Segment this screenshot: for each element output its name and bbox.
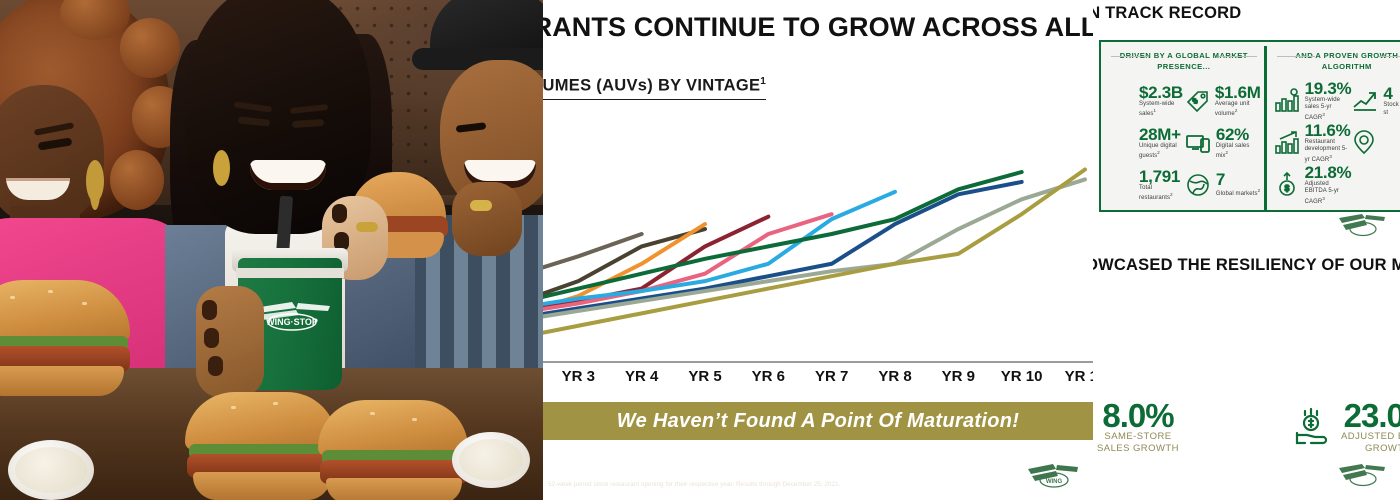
chart-subtitle-text: OLUMES (AUVs) BY VINTAGE <box>543 77 760 95</box>
stat-value: 19.3% <box>1305 80 1352 97</box>
gold-ring <box>356 222 378 232</box>
hand-coin-icon <box>1293 407 1335 449</box>
stat-cell: 19.3%System-wide sales 5-yr CAGR3 <box>1273 80 1352 123</box>
devices-icon <box>1184 130 1212 156</box>
stats-slides: EN TRACK RECORD DRIVEN BY A GLOBAL MARKE… <box>1093 0 1400 500</box>
x-tick-yr-9: YR 9 <box>942 368 975 385</box>
stat-cell: 4Stock same-st <box>1351 85 1400 117</box>
x-tick-yr-10: YR 10 <box>1001 368 1043 385</box>
stats-left-grid: $2.3BSystem-wide sales1$$1.6MAverage uni… <box>1107 80 1261 206</box>
stats-left-heading: DRIVEN BY A GLOBAL MARKET PRESENCE... <box>1107 50 1261 72</box>
stat-label: Stock same-st <box>1383 102 1400 117</box>
bar-chart-arrow-icon <box>1273 130 1301 156</box>
price-tag-icon: $ <box>1183 88 1211 114</box>
chart-plot-area <box>543 108 1093 360</box>
stats-right-heading: AND A PROVEN GROWTH ALGORITHM <box>1273 50 1400 72</box>
stats-card: DRIVEN BY A GLOBAL MARKET PRESENCE... $2… <box>1099 40 1400 212</box>
stat-value: $1.6M <box>1215 84 1261 101</box>
stat-label: Restaurant development 5-yr CAGR3 <box>1305 139 1351 165</box>
stat-same-store-sales: 8.0% SAME-STORESALES GROWTH <box>1097 400 1179 455</box>
nail-polish <box>332 204 347 223</box>
spacer <box>1107 130 1135 156</box>
x-tick-yr-5: YR 5 <box>688 368 721 385</box>
chart-slide: URANTS CONTINUE TO GROW ACROSS ALL V OLU… <box>543 0 1093 500</box>
stat-cell <box>1350 130 1400 156</box>
stat-row: $21.8%Adjusted EBITDA 5-yr CAGR3 <box>1273 164 1400 206</box>
stat-cell: $$1.6MAverage unit volume2 <box>1183 84 1261 119</box>
stat-value: 21.8% <box>1305 164 1352 181</box>
globe-icon <box>1184 172 1212 198</box>
hair-curl <box>110 150 164 210</box>
sandwich-front-right <box>318 400 468 500</box>
cup-brand-text: WING·STOP <box>266 317 318 327</box>
svg-text:$: $ <box>1192 98 1200 106</box>
auv-vintage-line-chart <box>543 108 1093 360</box>
chart-x-axis-line <box>543 361 1093 363</box>
stats-top-title: EN TRACK RECORD <box>1093 4 1241 23</box>
proven-track-record-slide: EN TRACK RECORD DRIVEN BY A GLOBAL MARKE… <box>1093 0 1400 250</box>
stats-bottom-title: HOWCASED THE RESILIENCY OF OUR MODEL <box>1093 256 1400 275</box>
stat-value: 23.0% <box>1344 400 1400 431</box>
location-pin-icon <box>1350 130 1378 156</box>
stat-label: Total restaurants2 <box>1139 185 1184 203</box>
person-left-earring <box>86 160 104 202</box>
person-center-smile <box>250 160 326 190</box>
stat-cell: 28M+Unique digital guests2 <box>1107 126 1184 161</box>
chart-subtitle-footnote-marker: 1 <box>760 76 766 87</box>
stats-left-heading-text: DRIVEN BY A GLOBAL MARKET PRESENCE... <box>1120 51 1248 71</box>
stat-value: 11.6% <box>1305 122 1351 139</box>
stat-label: Unique digital guests2 <box>1139 143 1184 161</box>
maturation-banner: We Haven’t Found A Point Of Maturation! <box>543 402 1093 440</box>
person-right-hand <box>452 182 522 256</box>
stat-cell: $2.3BSystem-wide sales1 <box>1107 84 1183 119</box>
trend-up-icon <box>1351 88 1379 114</box>
chart-line-vintage-dark-green <box>543 172 1022 303</box>
hair-curl <box>120 18 180 78</box>
stat-value: $2.3B <box>1139 84 1183 101</box>
x-tick-yr-4: YR 4 <box>625 368 658 385</box>
stat-value: 7 <box>1216 171 1260 188</box>
wingstop-wing-logo: WING <box>1027 462 1079 492</box>
stat-cell: 7Global markets2 <box>1184 171 1261 199</box>
stat-label: Global markets2 <box>1216 188 1260 199</box>
stat-label: Average unit volume2 <box>1215 101 1261 119</box>
coin-arrow-icon: $ <box>1273 172 1301 198</box>
wingstop-wing-logo <box>1338 212 1386 240</box>
nail-polish <box>204 328 219 348</box>
stats-card-left: DRIVEN BY A GLOBAL MARKET PRESENCE... $2… <box>1101 42 1267 210</box>
person-center-earring <box>213 150 230 186</box>
chart-slide-subtitle: OLUMES (AUVs) BY VINTAGE1 <box>543 76 766 100</box>
stat-value: 1,791 <box>1139 168 1184 185</box>
wingstop-cup-logo: WING·STOP <box>252 300 332 336</box>
stats-right-heading-text: AND A PROVEN GROWTH ALGORITHM <box>1295 51 1398 71</box>
stat-label: System-wide sales 5-yr CAGR3 <box>1305 97 1352 123</box>
stat-adjusted-ebitda-growth: 23.0% ADJUSTED EBITDAGROWTH <box>1293 400 1400 455</box>
chart-slide-title: URANTS CONTINUE TO GROW ACROSS ALL V <box>543 12 1093 43</box>
maturation-banner-text: We Haven’t Found A Point Of Maturation! <box>617 410 1019 433</box>
sandwich-front-left <box>0 280 130 400</box>
stats-right-grid: 19.3%System-wide sales 5-yr CAGR34Stock … <box>1273 80 1400 206</box>
stat-label: ADJUSTED EBITDAGROWTH <box>1341 431 1400 455</box>
stat-row: 11.6%Restaurant development 5-yr CAGR3 <box>1273 122 1400 164</box>
stat-cell: 62%Digital sales mix2 <box>1184 126 1261 161</box>
stat-row: 19.3%System-wide sales 5-yr CAGR34Stock … <box>1273 80 1400 122</box>
stat-cell: $21.8%Adjusted EBITDA 5-yr CAGR3 <box>1273 164 1352 207</box>
svg-text:$: $ <box>1284 184 1289 193</box>
stats-card-right: AND A PROVEN GROWTH ALGORITHM 19.3%Syste… <box>1267 42 1400 210</box>
stat-cell: 1,791Total restaurants2 <box>1107 168 1184 203</box>
stat-label: SAME-STORESALES GROWTH <box>1097 431 1179 455</box>
chart-x-axis-labels: YR 2YR 3YR 4YR 5YR 6YR 7YR 8YR 9YR 10YR … <box>543 368 1093 394</box>
spacer <box>1107 172 1135 198</box>
stat-cell: 11.6%Restaurant development 5-yr CAGR3 <box>1273 122 1351 165</box>
dipping-sauce-cup-left <box>8 440 94 500</box>
stat-value: 4 <box>1383 85 1400 102</box>
cup-rim <box>236 268 344 278</box>
stat-value: 62% <box>1216 126 1261 143</box>
person-left-face <box>0 85 104 225</box>
hero-photo: WING·STOP <box>0 0 543 500</box>
sandwich-front-center <box>185 392 337 500</box>
resiliency-slide: HOWCASED THE RESILIENCY OF OUR MODEL 8.0… <box>1093 250 1400 500</box>
dipping-sauce-cup-right <box>452 432 530 488</box>
nail-polish <box>202 300 217 320</box>
stat-label: System-wide sales1 <box>1139 101 1183 119</box>
person-right-ring <box>470 200 492 211</box>
bar-chart-dollar-icon <box>1273 88 1301 114</box>
x-tick-yr-8: YR 8 <box>878 368 911 385</box>
stat-value: 28M+ <box>1139 126 1184 143</box>
stats-top-footnotes <box>1099 218 1299 250</box>
stat-row: $2.3BSystem-wide sales1$$1.6MAverage uni… <box>1107 80 1261 122</box>
wingstop-wing-logo <box>1338 462 1386 490</box>
x-tick-yr-11: YR 11 <box>1065 368 1093 385</box>
stat-row: 1,791Total restaurants27Global markets2 <box>1107 164 1261 206</box>
svg-text:WING: WING <box>1046 479 1063 485</box>
chart-footnote: 52-week period since restaurant opening … <box>548 481 968 488</box>
x-tick-yr-3: YR 3 <box>562 368 595 385</box>
x-tick-yr-6: YR 6 <box>752 368 785 385</box>
stat-row: 28M+Unique digital guests262%Digital sal… <box>1107 122 1261 164</box>
slide-montage: WING·STOP <box>0 0 1400 500</box>
stat-label: Adjusted EBITDA 5-yr CAGR3 <box>1305 181 1352 207</box>
x-tick-yr-7: YR 7 <box>815 368 848 385</box>
spacer <box>1107 88 1135 114</box>
nail-polish <box>208 356 223 376</box>
stat-value: 8.0% <box>1102 400 1173 431</box>
stat-label: Digital sales mix2 <box>1216 143 1261 161</box>
